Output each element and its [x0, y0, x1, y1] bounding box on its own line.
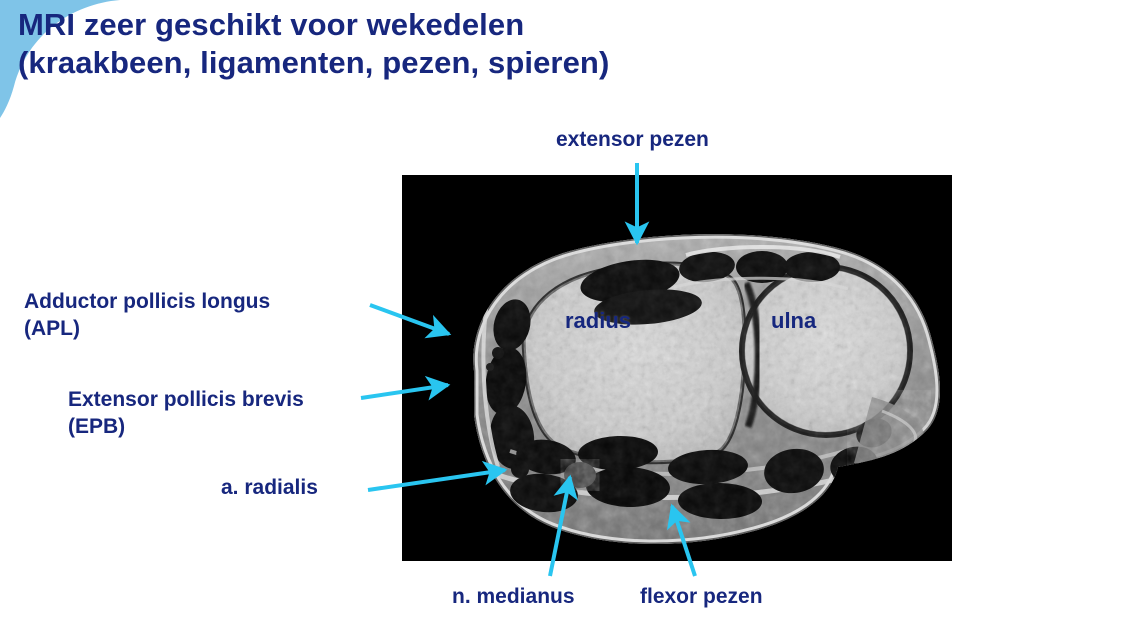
bone-label-ulna: ulna — [771, 308, 816, 334]
mri-axial-wrist-scan — [402, 175, 952, 561]
slide-canvas: MRI zeer geschikt voor wekedelen (kraakb… — [0, 0, 1131, 620]
mri-image — [402, 175, 952, 561]
page-title: MRI zeer geschikt voor wekedelen (kraakb… — [18, 6, 918, 82]
callout-label-n-medianus: n. medianus — [452, 583, 575, 610]
title-line-2: (kraakbeen, ligamenten, pezen, spieren) — [18, 44, 918, 82]
callout-label-extensor-pezen: extensor pezen — [556, 126, 709, 153]
callout-line: (APL) — [24, 315, 270, 342]
bone-label-radius: radius — [565, 308, 631, 334]
callout-label-apl: Adductor pollicis longus (APL) — [24, 288, 270, 342]
callout-line: n. medianus — [452, 583, 575, 610]
title-line-1: MRI zeer geschikt voor wekedelen — [18, 6, 918, 44]
callout-line: (EPB) — [68, 413, 304, 440]
callout-label-epb: Extensor pollicis brevis (EPB) — [68, 386, 304, 440]
callout-line: Adductor pollicis longus — [24, 288, 270, 315]
callout-line: extensor pezen — [556, 126, 709, 153]
callout-line: a. radialis — [221, 474, 318, 501]
callout-label-a-radialis: a. radialis — [221, 474, 318, 501]
callout-line: flexor pezen — [640, 583, 763, 610]
callout-label-flexor-pezen: flexor pezen — [640, 583, 763, 610]
callout-line: Extensor pollicis brevis — [68, 386, 304, 413]
